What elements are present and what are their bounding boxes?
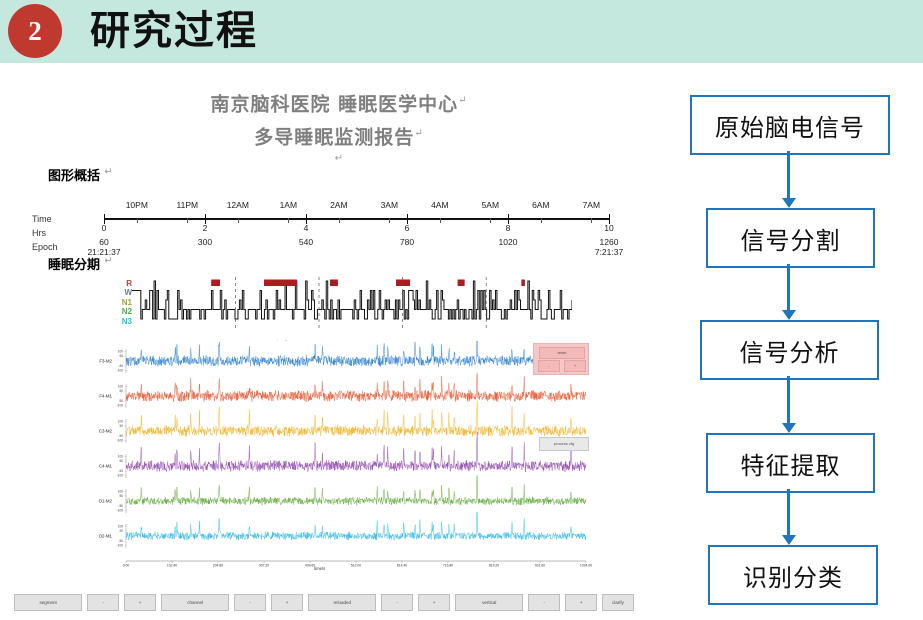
flow-arrow-3 xyxy=(787,376,790,423)
hypnogram-rem-block xyxy=(521,279,525,286)
timeline-time-label: 10PM xyxy=(126,200,148,210)
eeg-ytick-label: 100 xyxy=(118,524,124,528)
hypnogram-rem-block xyxy=(396,279,410,286)
timeline-hour-label: 8 xyxy=(506,223,511,233)
flow-step-raw-eeg[interactable]: 原始脑电信号 xyxy=(690,95,890,155)
eeg-ytick-label: -100 xyxy=(117,438,124,442)
pilcrow-icon: ↵ xyxy=(414,128,423,139)
section-heading-graphic-summary: 图形概括 ↵ xyxy=(48,165,664,184)
eeg-signals-svg: 10050-50-10010050-50-10010050-50-1001005… xyxy=(74,341,594,573)
eeg-ytick-label: 50 xyxy=(119,494,123,498)
eeg-ytick-label: -50 xyxy=(118,364,123,368)
timeline-hour-label: 2 xyxy=(203,223,208,233)
timeline-end-clock: 7:21:37 xyxy=(595,247,623,257)
eeg-ytick-label: -50 xyxy=(118,504,123,508)
research-process-flowchart: 原始脑电信号 信号分割 信号分析 特征提取 识别分类 xyxy=(690,95,910,615)
eeg-xaxis-label: time/s xyxy=(314,566,325,571)
timeline-hour-label: 10 xyxy=(604,223,613,233)
timeline-epoch-label: 540 xyxy=(299,237,313,247)
timeline-minor-tick xyxy=(490,218,491,223)
flow-arrowhead-1-icon xyxy=(782,198,796,208)
eeg-ytick-label: 50 xyxy=(119,459,123,463)
toolbar-button-channel[interactable]: channel xyxy=(161,594,229,611)
toolbar-button-[interactable]: - xyxy=(234,594,266,611)
eeg-reset-button[interactable]: reset xyxy=(539,347,585,359)
eeg-ytick-label: 100 xyxy=(118,384,124,388)
hypnogram: RWN1N2N3 xyxy=(14,277,664,339)
timeline-time-label: 7AM xyxy=(583,200,600,210)
eeg-xtick-label: 0.00 xyxy=(123,563,130,567)
timeline-epoch-label: 780 xyxy=(400,237,414,247)
section-heading-text: 图形概括 xyxy=(48,169,100,184)
toolbar-button-[interactable]: - xyxy=(381,594,413,611)
pilcrow-icon: ↵ xyxy=(105,166,113,177)
hypnogram-stage-labels: RWN1N2N3 xyxy=(112,279,132,327)
eeg-ytick-label: 100 xyxy=(118,489,124,493)
eeg-ytick-label: -50 xyxy=(118,539,123,543)
eeg-ytick-label: -50 xyxy=(118,469,123,473)
toolbar-button-[interactable]: + xyxy=(418,594,450,611)
eeg-ytick-label: -100 xyxy=(117,368,124,372)
eeg-ytick-label: 50 xyxy=(119,424,123,428)
report-doc-title: 南京脑科医院 睡眠医学中心↵ 多导睡眠监测报告↵ xyxy=(14,70,664,153)
report-title-line1: 南京脑科医院 睡眠医学中心 xyxy=(210,93,458,115)
hypnogram-rem-block xyxy=(264,279,297,286)
timeline-time-label: 2AM xyxy=(330,200,347,210)
hypnogram-plot xyxy=(132,277,572,333)
flow-arrowhead-4-icon xyxy=(782,535,796,545)
timeline-minor-tick xyxy=(591,218,592,223)
header-divider xyxy=(0,63,923,66)
eeg-ytick-label: 50 xyxy=(119,354,123,358)
timeline-row-label-epoch: Epoch xyxy=(32,242,58,252)
toolbar-button-[interactable]: + xyxy=(565,594,597,611)
eeg-xtick-label: 102.40 xyxy=(167,563,177,567)
timeline-minor-tick xyxy=(137,218,138,223)
pilcrow-icon: ↵ xyxy=(458,95,467,106)
flow-arrowhead-2-icon xyxy=(782,310,796,320)
eeg-scale-minus-button[interactable]: - xyxy=(538,360,560,372)
hypnogram-stage-label: W xyxy=(112,288,132,298)
page-title: 研究过程 xyxy=(90,5,258,57)
timeline-axis: Time Hrs Epoch 10PM11PM12AM1AM2AM3AM4AM5… xyxy=(14,190,664,258)
flow-arrow-4 xyxy=(787,489,790,535)
timeline-start-clock: 21:21:37 xyxy=(87,247,120,257)
timeline-minor-tick xyxy=(238,218,239,223)
timeline-epoch-label: 60 xyxy=(99,237,108,247)
hypnogram-stage-label: N2 xyxy=(112,307,132,317)
eeg-ytick-label: -100 xyxy=(117,403,124,407)
timeline-row-label-time: Time xyxy=(32,214,52,224)
toolbar-button-[interactable]: + xyxy=(124,594,156,611)
section-number-badge: 2 xyxy=(8,4,62,58)
flow-arrow-1 xyxy=(787,151,790,198)
timeline-epoch-label: 300 xyxy=(198,237,212,247)
eeg-xtick-label: 307.20 xyxy=(259,563,269,567)
process-config-button[interactable]: process cfg xyxy=(539,437,589,451)
flow-step-signal-segmentation[interactable]: 信号分割 xyxy=(706,208,875,268)
toolbar-button-[interactable]: - xyxy=(87,594,119,611)
eeg-plot-panel: segment 1142, time from 0 to 1024 s 1005… xyxy=(14,341,664,591)
timeline-epoch-label: 1260 xyxy=(600,237,619,247)
timeline-minor-tick xyxy=(440,218,441,223)
toolbar-button-vertical[interactable]: vertical xyxy=(455,594,523,611)
eeg-xtick-label: 1024.00 xyxy=(580,563,592,567)
timeline-minor-tick xyxy=(541,218,542,223)
timeline-epoch-label: 1020 xyxy=(499,237,518,247)
timeline-time-label: 5AM xyxy=(482,200,499,210)
eeg-ytick-label: 100 xyxy=(118,349,124,353)
pilcrow-icon: ↵ xyxy=(14,153,664,165)
eeg-xtick-label: 921.60 xyxy=(535,563,545,567)
timeline-hour-label: 4 xyxy=(304,223,309,233)
timeline-hour-label: 6 xyxy=(405,223,410,233)
timeline-minor-tick xyxy=(339,218,340,223)
flow-arrowhead-3-icon xyxy=(782,423,796,433)
eeg-ytick-label: 100 xyxy=(118,419,124,423)
eeg-ytick-label: 50 xyxy=(119,389,123,393)
timeline-minor-tick xyxy=(187,218,188,223)
report-title-line2: 多导睡眠监测报告 xyxy=(254,127,414,149)
eeg-channel-label: F3-M2 xyxy=(99,358,112,363)
flow-step-feature-extraction[interactable]: 特征提取 xyxy=(706,433,875,493)
flow-arrow-2 xyxy=(787,264,790,310)
timeline-minor-tick xyxy=(288,218,289,223)
toolbar-button-[interactable]: - xyxy=(528,594,560,611)
flow-step-signal-analysis[interactable]: 信号分析 xyxy=(700,320,879,380)
timeline-row-label-hrs: Hrs xyxy=(32,228,46,238)
toolbar-button-reloaded[interactable]: reloaded xyxy=(308,594,376,611)
timeline-time-label: 3AM xyxy=(381,200,398,210)
hypnogram-rem-block xyxy=(211,279,220,286)
eeg-xtick-label: 512.00 xyxy=(351,563,361,567)
flow-step-recognition-classification[interactable]: 识别分类 xyxy=(708,545,878,605)
eeg-ytick-label: 50 xyxy=(119,529,123,533)
eeg-channel-label: O1-M2 xyxy=(99,498,113,503)
eeg-channel-label: O2-M1 xyxy=(99,533,113,538)
eeg-ytick-label: -100 xyxy=(117,508,124,512)
eeg-xtick-label: 614.40 xyxy=(397,563,407,567)
sleep-report-panel: 南京脑科医院 睡眠医学中心↵ 多导睡眠监测报告↵ ↵ 图形概括 ↵ Time H… xyxy=(14,70,664,618)
timeline-time-label: 11PM xyxy=(177,200,199,210)
timeline-axis-line xyxy=(104,218,609,220)
eeg-xtick-label: 819.20 xyxy=(489,563,499,567)
toolbar-button-[interactable]: + xyxy=(271,594,303,611)
hypnogram-stage-label: N1 xyxy=(112,298,132,308)
toolbar-button-clarify[interactable]: clarify xyxy=(602,594,634,611)
eeg-xtick-label: 716.80 xyxy=(443,563,453,567)
timeline-time-label: 6AM xyxy=(532,200,549,210)
eeg-xtick-label: 204.80 xyxy=(213,563,223,567)
eeg-scale-plus-button[interactable]: + xyxy=(564,360,586,372)
timeline-time-label: 12AM xyxy=(227,200,249,210)
hypnogram-rem-block xyxy=(458,279,465,286)
eeg-channel-label: F4-M1 xyxy=(99,393,112,398)
eeg-bottom-toolbar[interactable]: segment-+channel-+reloaded-+vertical-+cl… xyxy=(14,592,634,612)
hypnogram-stage-label: R xyxy=(112,279,132,289)
timeline-hour-label: 0 xyxy=(102,223,107,233)
timeline-time-label: 1AM xyxy=(280,200,297,210)
eeg-channel-label: C4-M1 xyxy=(99,463,113,468)
section-heading-text: 睡眠分期 xyxy=(48,258,100,273)
eeg-ytick-label: -100 xyxy=(117,473,124,477)
eeg-ytick-label: 100 xyxy=(118,454,124,458)
eeg-ytick-label: -100 xyxy=(117,543,124,547)
hypnogram-rem-block xyxy=(330,279,338,286)
timeline-time-label: 4AM xyxy=(431,200,448,210)
timeline-minor-tick xyxy=(389,218,390,223)
eeg-ytick-label: -50 xyxy=(118,434,123,438)
toolbar-button-segment[interactable]: segment xyxy=(14,594,82,611)
hypnogram-stage-label: N3 xyxy=(112,317,132,327)
eeg-side-panel: reset - + xyxy=(533,343,589,375)
eeg-channel-label: C3-M2 xyxy=(99,428,113,433)
eeg-ytick-label: -50 xyxy=(118,399,123,403)
